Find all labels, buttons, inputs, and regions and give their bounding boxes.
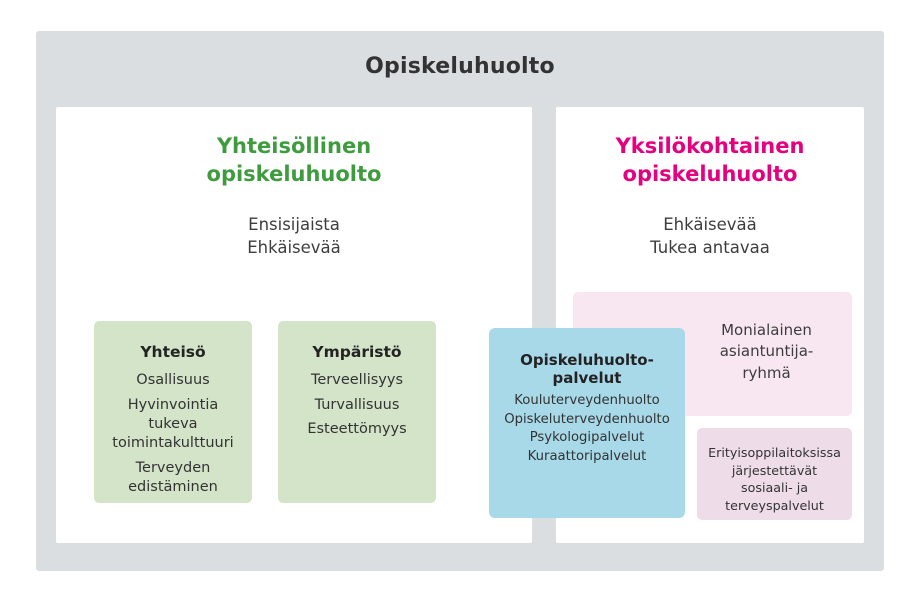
services-box-line: Psykologipalvelut	[497, 429, 677, 448]
environment-box-line: Terveellisyys	[286, 371, 428, 390]
services-title-line-2: palvelut	[497, 369, 677, 387]
expert-group-line-3: ryhmä	[691, 363, 842, 384]
environment-box: Ympäristö Terveellisyys Turvallisuus Est…	[278, 321, 436, 503]
services-box-title: Opiskeluhuolto- palvelut	[497, 351, 677, 387]
individual-panel-heading: Yksilökohtainen opiskeluhuolto	[556, 133, 864, 188]
student-welfare-services-box: Opiskeluhuolto- palvelut Kouluterveydenh…	[489, 328, 685, 518]
community-box: Yhteisö Osallisuus Hyvinvointia tukeva t…	[94, 321, 252, 503]
communal-subtext-line-2: Ehkäisevää	[56, 236, 532, 259]
diagram-title: Opiskeluhuolto	[36, 54, 884, 79]
individual-panel-subtext: Ehkäisevää Tukea antavaa	[556, 213, 864, 260]
diagram-canvas: Opiskeluhuolto Yhteisöllinen opiskeluhuo…	[0, 0, 920, 602]
expert-group-text: Monialainen asiantuntija- ryhmä	[691, 320, 842, 384]
special-services-line: sosiaali- ja	[705, 479, 844, 497]
special-institution-services-box: Erityisoppilaitoksissa järjestettävät so…	[697, 428, 852, 520]
special-services-line: järjestettävät	[705, 462, 844, 480]
community-box-title: Yhteisö	[102, 343, 244, 362]
community-box-line: Osallisuus	[102, 371, 244, 390]
environment-box-title: Ympäristö	[286, 343, 428, 362]
community-box-line: Hyvinvointia tukeva toimintakulttuuri	[102, 396, 244, 454]
communal-heading-line-1: Yhteisöllinen	[56, 133, 532, 161]
individual-heading-line-1: Yksilökohtainen	[556, 133, 864, 161]
community-box-line: Terveyden edistäminen	[102, 459, 244, 498]
communal-student-welfare-panel: Yhteisöllinen opiskeluhuolto Ensisijaist…	[56, 107, 532, 543]
individual-subtext-line-2: Tukea antavaa	[556, 236, 864, 259]
expert-group-line-2: asiantuntija-	[691, 341, 842, 362]
expert-group-line-1: Monialainen	[691, 320, 842, 341]
individual-heading-line-2: opiskeluhuolto	[556, 161, 864, 189]
environment-box-line: Esteettömyys	[286, 420, 428, 439]
services-box-line: Opiskeluterveydenhuolto	[497, 411, 677, 430]
services-box-line: Kouluterveydenhuolto	[497, 392, 677, 411]
environment-box-line: Turvallisuus	[286, 396, 428, 415]
communal-panel-subtext: Ensisijaista Ehkäisevää	[56, 213, 532, 260]
services-box-line: Kuraattoripalvelut	[497, 448, 677, 467]
services-title-line-1: Opiskeluhuolto-	[497, 351, 677, 369]
communal-panel-heading: Yhteisöllinen opiskeluhuolto	[56, 133, 532, 188]
special-services-line: terveyspalvelut	[705, 497, 844, 515]
communal-heading-line-2: opiskeluhuolto	[56, 161, 532, 189]
communal-subtext-line-1: Ensisijaista	[56, 213, 532, 236]
special-services-line: Erityisoppilaitoksissa	[705, 444, 844, 462]
individual-subtext-line-1: Ehkäisevää	[556, 213, 864, 236]
